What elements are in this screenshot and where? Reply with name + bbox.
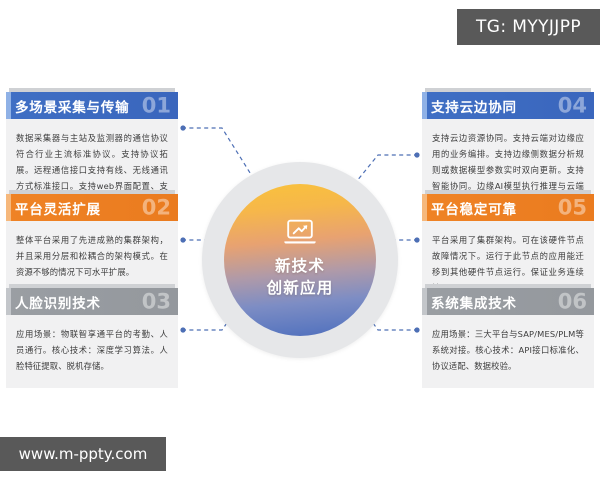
center-hub: 新技术 创新应用 <box>202 162 398 358</box>
card-body: 应用场景：物联智享通平台的考勤、人员通行。核心技术：深度学习算法。人脸特征提取、… <box>6 315 178 388</box>
header-accent-bar <box>6 194 11 221</box>
connector-1 <box>182 128 252 176</box>
card-title: 支持云边协同 <box>431 96 517 116</box>
connector-dot-2 <box>180 237 185 242</box>
card-header: 平台灵活扩展 02 <box>6 194 178 221</box>
card-title: 平台灵活扩展 <box>15 198 101 218</box>
connector-dot-4 <box>414 152 419 157</box>
card-body: 应用场景：三大平台与SAP/MES/PLM等系统对接。核心技术：API接口标准化… <box>422 315 594 388</box>
card-description: 应用场景：三大平台与SAP/MES/PLM等系统对接。核心技术：API接口标准化… <box>432 327 584 375</box>
laptop-growth-icon <box>283 219 317 246</box>
card-header: 平台稳定可靠 05 <box>422 194 594 221</box>
header-accent-bar <box>6 92 11 119</box>
card-number: 05 <box>558 195 587 219</box>
connector-dot-1 <box>180 125 185 130</box>
card-number: 01 <box>142 93 171 117</box>
card-header: 多场景采集与传输 01 <box>6 92 178 119</box>
card-header: 人脸识别技术 03 <box>6 288 178 315</box>
connector-dot-6 <box>414 327 419 332</box>
card-header: 支持云边协同 04 <box>422 92 594 119</box>
telegram-watermark: TG: MYYJJPP <box>457 9 600 45</box>
card-title: 人脸识别技术 <box>15 292 101 312</box>
feature-card-2[interactable]: 平台灵活扩展 02 整体平台采用了先进成熟的集群架构，并且采用分层和松耦合的架构… <box>6 190 178 294</box>
header-accent-bar <box>422 92 427 119</box>
card-body: 整体平台采用了先进成熟的集群架构，并且采用分层和松耦合的架构模式。在资源不够的情… <box>6 221 178 294</box>
center-title-line1: 新技术 <box>275 255 325 277</box>
card-number: 04 <box>558 93 587 117</box>
feature-card-3[interactable]: 人脸识别技术 03 应用场景：物联智享通平台的考勤、人员通行。核心技术：深度学习… <box>6 284 178 388</box>
connector-dot-5 <box>414 237 419 242</box>
center-title-line2: 创新应用 <box>267 277 334 299</box>
card-header: 系统集成技术 06 <box>422 288 594 315</box>
connector-dot-3 <box>180 327 185 332</box>
header-accent-bar <box>6 288 11 315</box>
feature-card-6[interactable]: 系统集成技术 06 应用场景：三大平台与SAP/MES/PLM等系统对接。核心技… <box>422 284 594 388</box>
card-number: 03 <box>142 289 171 313</box>
card-description: 整体平台采用了先进成熟的集群架构，并且采用分层和松耦合的架构模式。在资源不够的情… <box>16 233 168 281</box>
site-watermark: www.m-ppty.com <box>0 437 166 471</box>
center-hub-gradient: 新技术 创新应用 <box>224 184 376 336</box>
card-title: 平台稳定可靠 <box>431 198 517 218</box>
card-description: 应用场景：物联智享通平台的考勤、人员通行。核心技术：深度学习算法。人脸特征提取、… <box>16 327 168 375</box>
header-accent-bar <box>422 194 427 221</box>
header-accent-bar <box>422 288 427 315</box>
card-title: 系统集成技术 <box>431 292 517 312</box>
card-title: 多场景采集与传输 <box>15 96 129 116</box>
card-number: 02 <box>142 195 171 219</box>
card-number: 06 <box>558 289 587 313</box>
